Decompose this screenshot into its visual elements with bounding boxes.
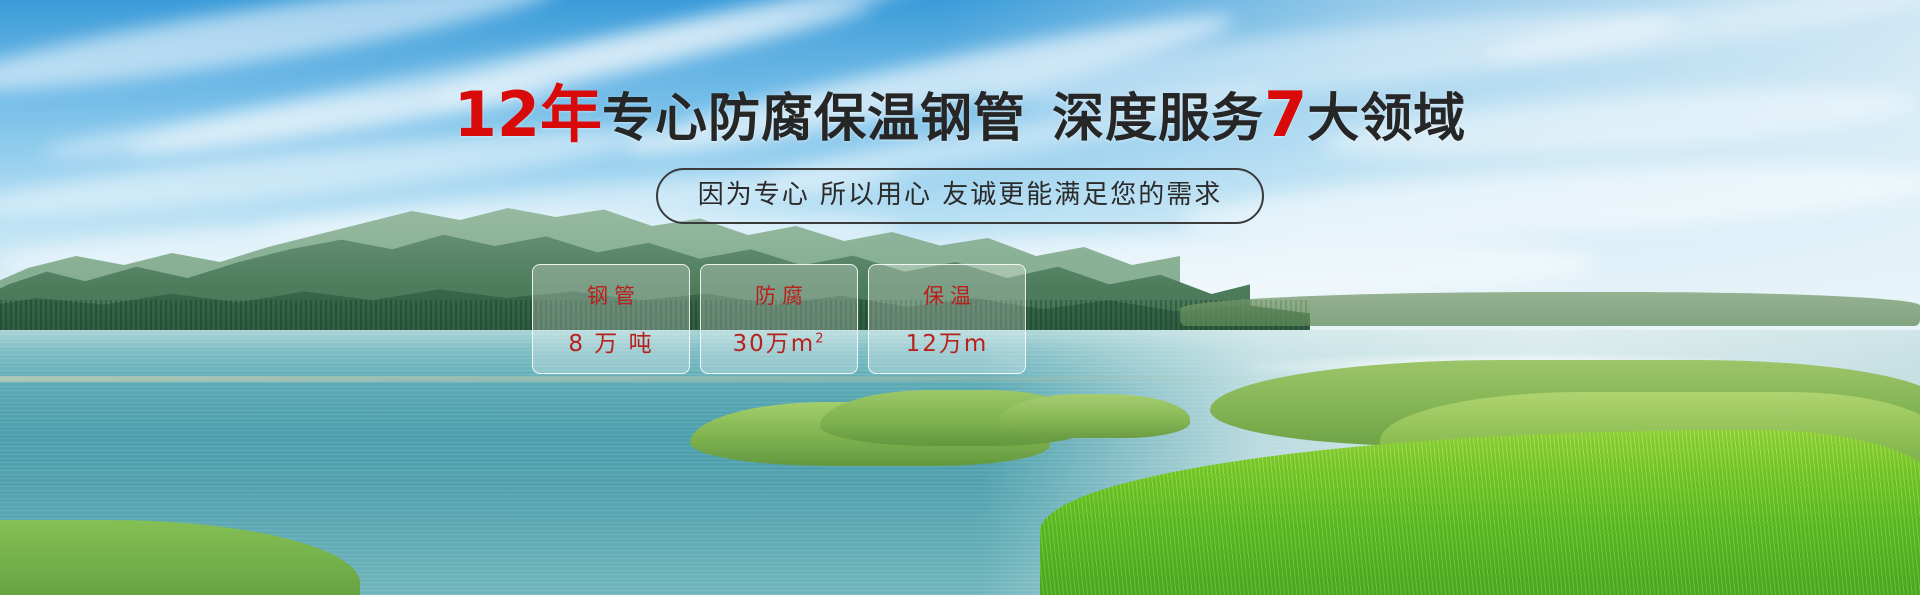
stat-card-value-base: 30万m	[733, 331, 816, 357]
headline-years-unit: 年	[540, 78, 602, 151]
headline: 12年专心防腐保温钢管深度服务7大领域	[0, 84, 1920, 150]
stat-card-title: 防腐	[749, 280, 809, 310]
stat-card-steel-pipe[interactable]: 钢管 8 万 吨	[532, 264, 690, 374]
headline-part-one: 专心防腐保温钢管	[602, 89, 1026, 149]
subtitle-container: 因为专心 所以用心 友诚更能满足您的需求	[0, 168, 1920, 224]
stat-card-value: 8 万 吨	[568, 324, 653, 358]
stat-card-value-base: 12万m	[906, 331, 989, 357]
banner-content: 12年专心防腐保温钢管深度服务7大领域 因为专心 所以用心 友诚更能满足您的需求…	[0, 0, 1920, 595]
stat-card-value: 30万m2	[733, 324, 826, 358]
subtitle-pill: 因为专心 所以用心 友诚更能满足您的需求	[656, 168, 1265, 224]
stat-card-title: 保温	[917, 280, 977, 310]
stat-card-insulation[interactable]: 保温 12万m	[868, 264, 1026, 374]
hero-banner: 12年专心防腐保温钢管深度服务7大领域 因为专心 所以用心 友诚更能满足您的需求…	[0, 0, 1920, 595]
stat-card-anticorrosion[interactable]: 防腐 30万m2	[700, 264, 858, 374]
stat-card-value: 12万m	[906, 324, 989, 358]
stat-card-value-superscript: 2	[815, 331, 825, 346]
headline-part-two: 深度服务	[1052, 89, 1264, 149]
stat-card-title: 钢管	[581, 280, 641, 310]
headline-fields-number: 7	[1264, 78, 1307, 151]
headline-part-three: 大领域	[1307, 89, 1466, 149]
stat-card-group: 钢管 8 万 吨 防腐 30万m2 保温 12万m	[532, 264, 1026, 374]
stat-card-value-base: 8 万 吨	[568, 331, 653, 357]
headline-years-number: 12	[454, 78, 540, 151]
